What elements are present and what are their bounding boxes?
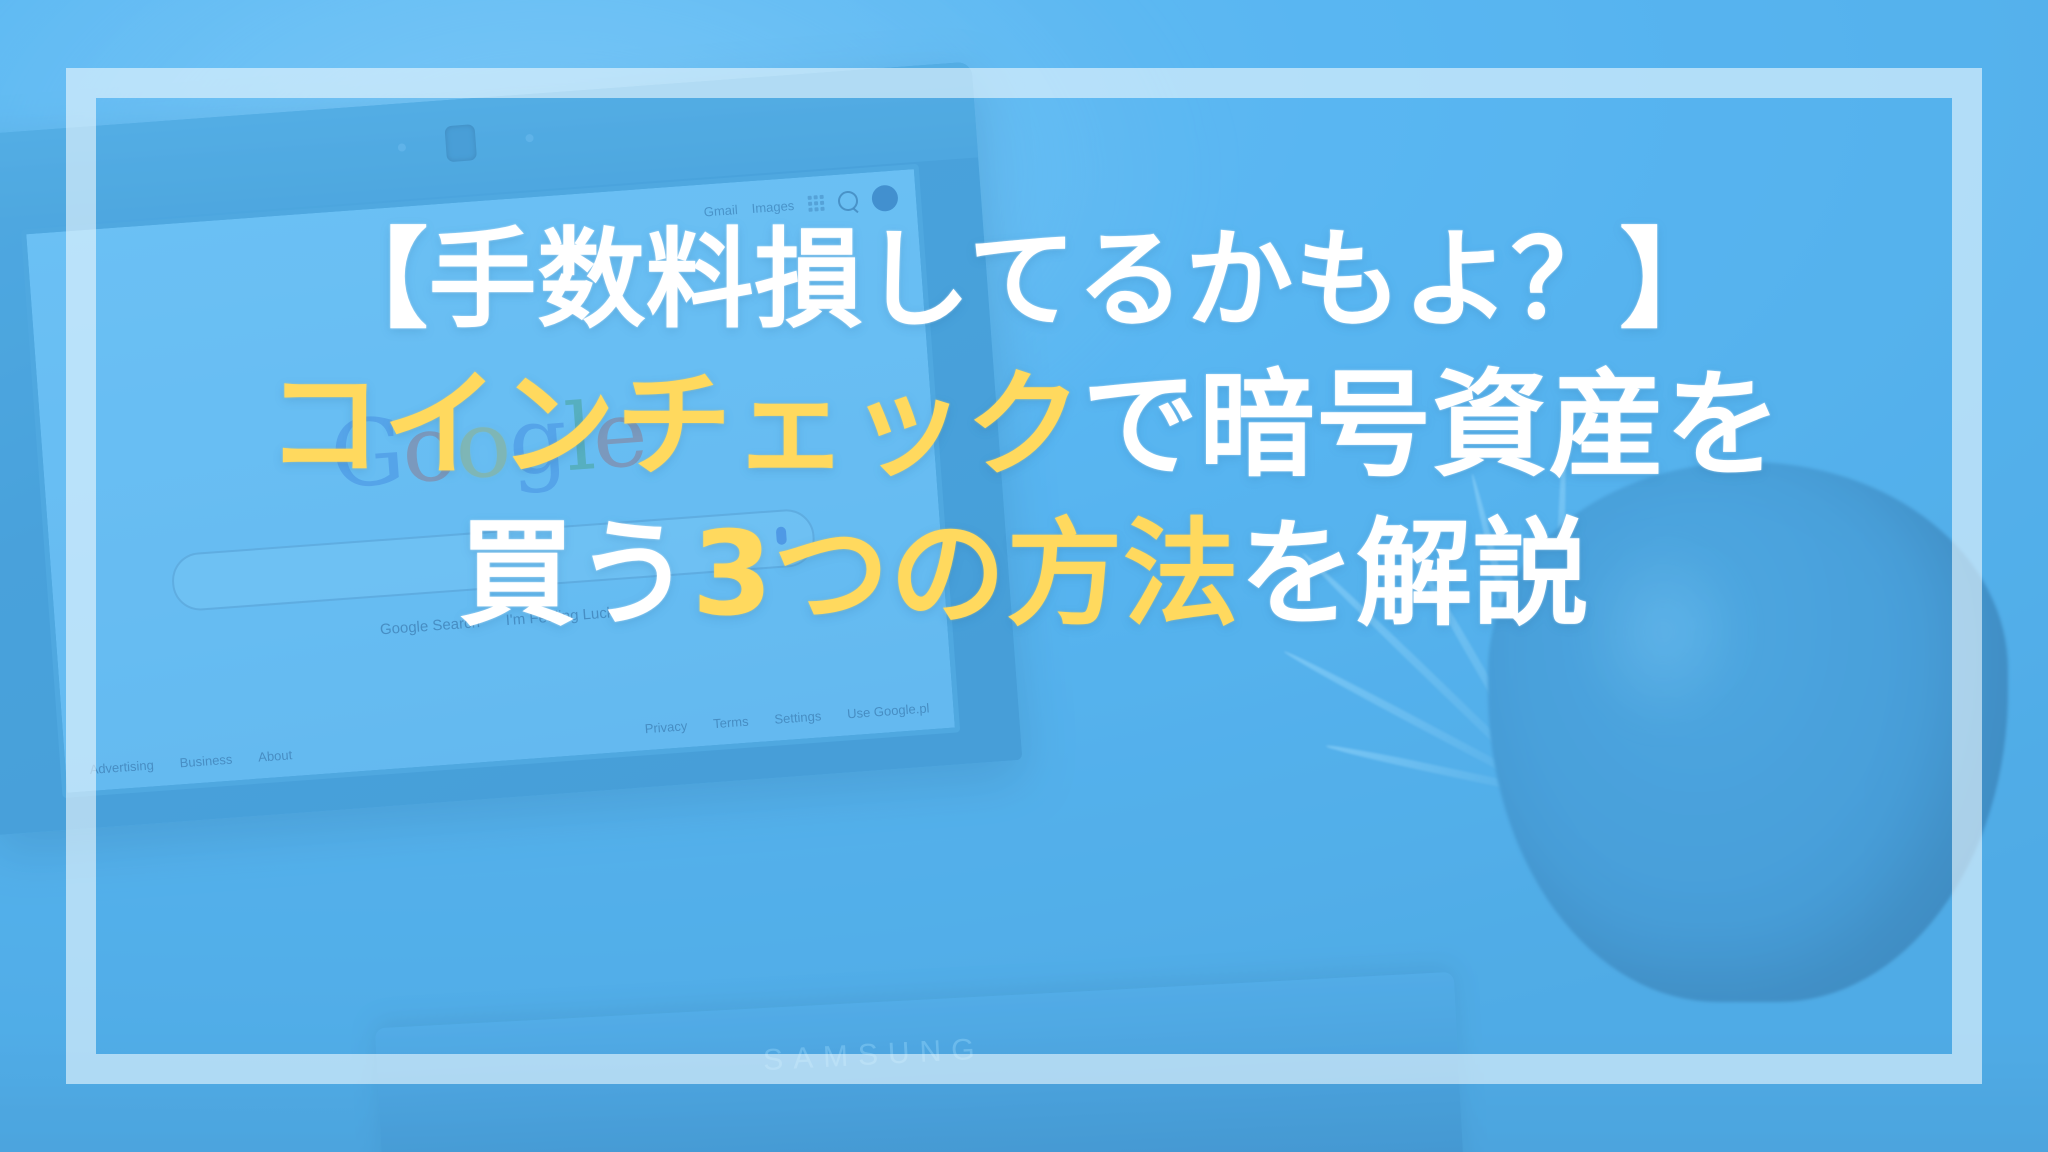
title-line-2-segment-1: コインチェック <box>266 358 1082 493</box>
title-line-2: コインチェックで暗号資産を <box>0 359 2048 494</box>
page-title: 【手数料損してるかもよ？】 コインチェックで暗号資産を 買う3つの方法を解説 <box>0 218 2048 642</box>
title-line-3: 買う3つの方法を解説 <box>0 508 2048 643</box>
title-line-3-segment-3: を解説 <box>1240 507 1590 642</box>
title-line-1: 【手数料損してるかもよ？】 <box>0 218 2048 343</box>
title-line-2-segment-2: で暗号資産を <box>1082 358 1781 493</box>
title-line-3-segment-2: 3つの方法 <box>692 507 1240 642</box>
thumbnail-canvas: Gmail Images Google Google Search I'm Fe… <box>0 0 2048 1152</box>
title-line-3-segment-1: 買う <box>459 507 692 642</box>
title-line-1-segment-1: 【手数料損してるかもよ？】 <box>320 218 1728 343</box>
